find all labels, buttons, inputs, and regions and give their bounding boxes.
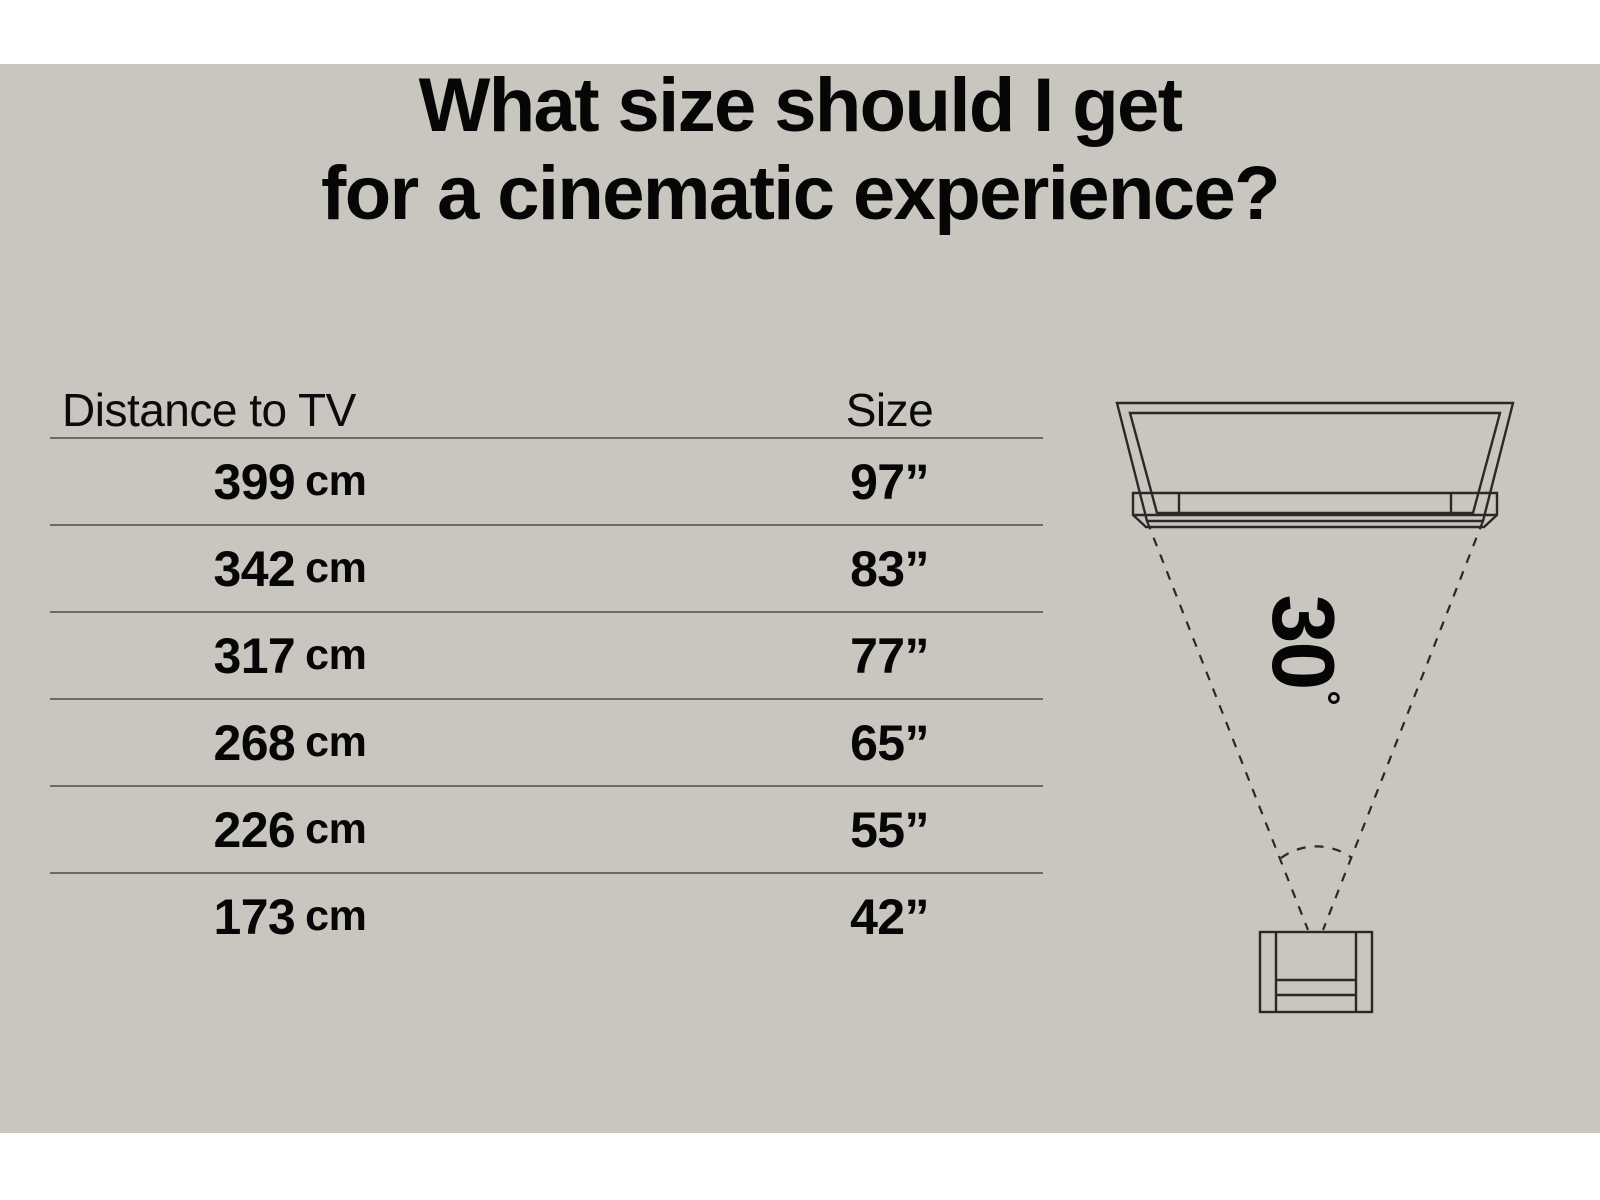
infographic-canvas: What size should I get for a cinematic e… [0,0,1600,1200]
tv-screen-inner-outline [1130,413,1500,513]
angle-arc [1281,846,1352,858]
table-row: 399 cm 97” [50,439,1043,524]
sightline-right [1323,521,1483,930]
cell-size: 55” [787,787,992,872]
cell-distance: 317 cm [125,613,455,698]
table-row: 268 cm 65” [50,700,1043,785]
cell-size: 97” [787,439,992,524]
cell-size: 42” [787,874,992,959]
distance-unit: cm [305,718,366,767]
cell-size: 65” [787,700,992,785]
size-guide-table: Distance to TV Size 399 cm 97” 342 cm 83… [50,365,1043,959]
cell-size: 77” [787,613,992,698]
distance-unit: cm [305,544,366,593]
column-header-size: Size [787,383,992,437]
angle-value: 30 [1257,594,1349,688]
viewing-angle-label: 30° [1223,603,1383,693]
table-row: 226 cm 55” [50,787,1043,872]
sightline-left [1147,521,1308,930]
table-row: 317 cm 77” [50,613,1043,698]
tv-screen-outline [1117,403,1513,521]
cell-distance: 268 cm [125,700,455,785]
cell-distance: 226 cm [125,787,455,872]
cell-distance: 342 cm [125,526,455,611]
page-title-line-2: for a cinematic experience? [0,150,1600,238]
distance-unit: cm [305,631,366,680]
page-title-line-1: What size should I get [0,62,1600,150]
cell-distance: 399 cm [125,439,455,524]
degree-symbol: ° [1306,690,1344,703]
distance-value: 317 [214,627,296,685]
page-title: What size should I get for a cinematic e… [0,62,1600,238]
table-header-row: Distance to TV Size [50,365,1043,437]
cell-size: 83” [787,526,992,611]
distance-value: 173 [214,888,296,946]
distance-value: 399 [214,453,296,511]
distance-unit: cm [305,892,366,941]
distance-value: 268 [214,714,296,772]
table-row: 173 cm 42” [50,874,1043,959]
distance-value: 342 [214,540,296,598]
table-row: 342 cm 83” [50,526,1043,611]
distance-unit: cm [305,457,366,506]
distance-unit: cm [305,805,366,854]
distance-value: 226 [214,801,296,859]
cell-distance: 173 cm [125,874,455,959]
column-header-distance: Distance to TV [62,383,356,437]
